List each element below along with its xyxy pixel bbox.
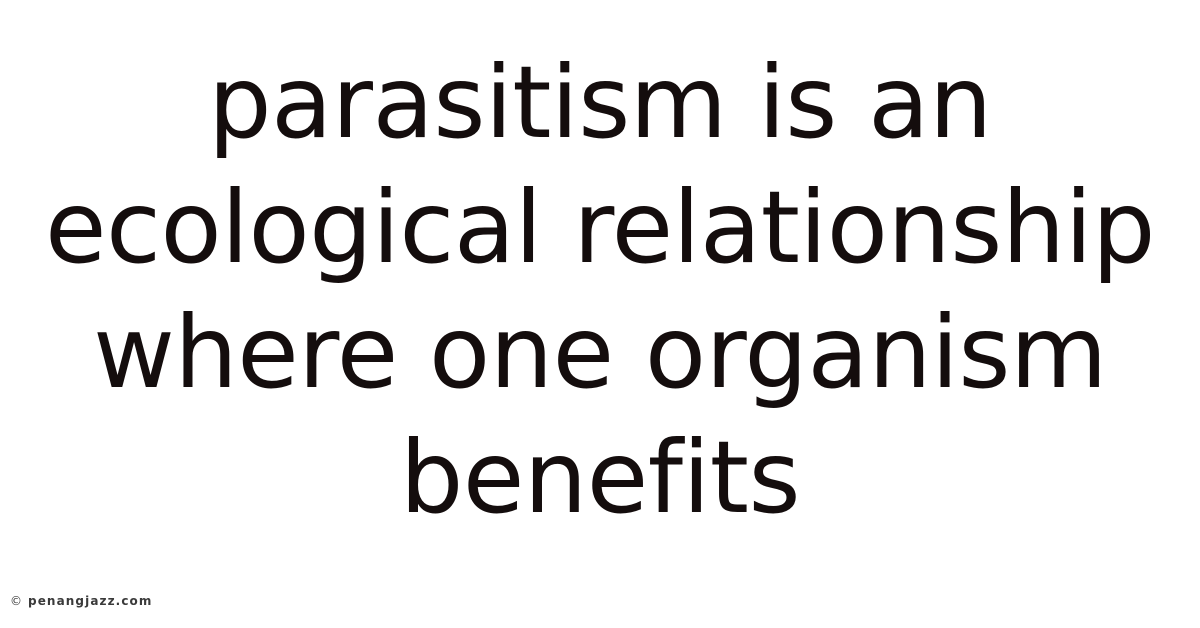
footer-credit: © penangjazz.com — [10, 594, 153, 608]
page-title: parasitism is an ecological relationship… — [6, 40, 1194, 540]
quote-card: parasitism is an ecological relationship… — [0, 0, 1200, 628]
copyright-icon: © — [10, 594, 22, 608]
headline-container: parasitism is an ecological relationship… — [0, 0, 1200, 580]
footer-site-name: penangjazz.com — [28, 594, 153, 608]
